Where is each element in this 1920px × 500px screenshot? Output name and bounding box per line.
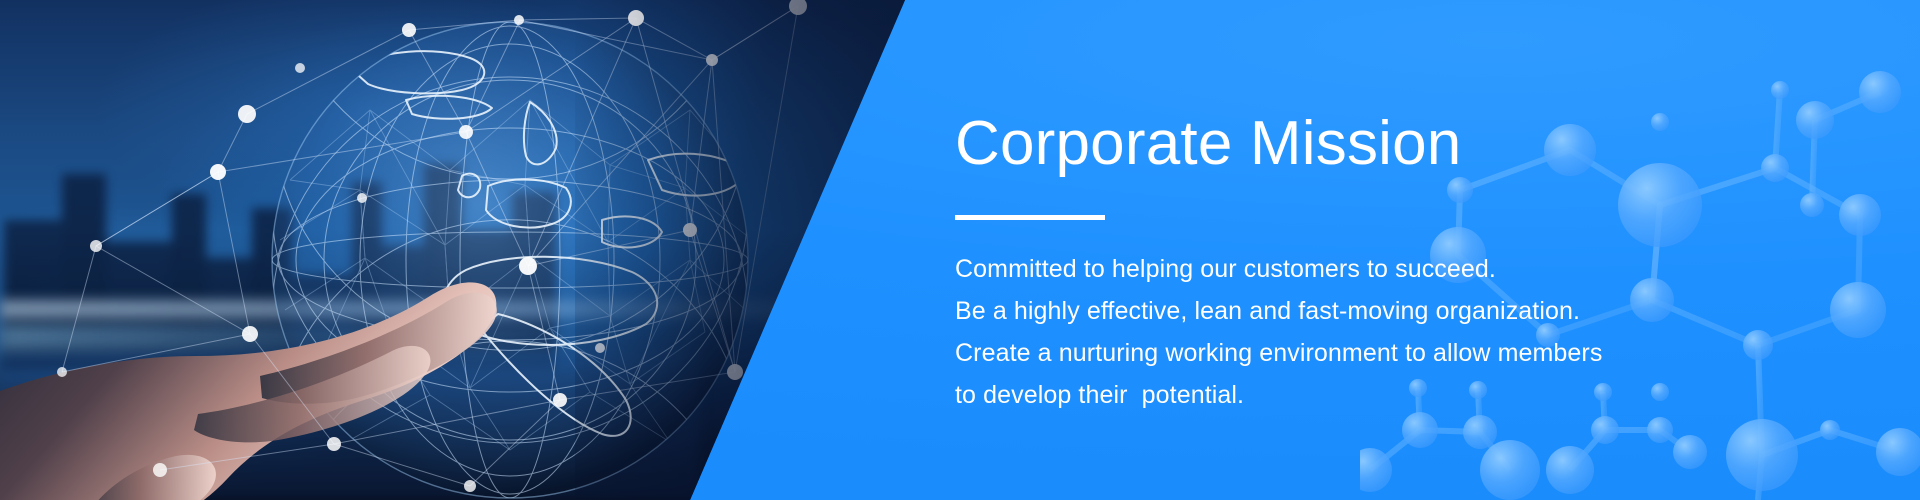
mission-line-2: Be a highly effective, lean and fast-mov… [955, 290, 1835, 332]
page-title: Corporate Mission [955, 112, 1835, 175]
title-divider [955, 215, 1105, 220]
corporate-mission-banner: Corporate Mission Committed to helping o… [0, 0, 1920, 500]
banner-content: Corporate Mission Committed to helping o… [955, 112, 1835, 416]
mission-line-1: Committed to helping our customers to su… [955, 248, 1835, 290]
mission-line-4: to develop their potential. [955, 374, 1835, 416]
mission-line-3: Create a nurturing working environment t… [955, 332, 1835, 374]
mission-statement: Committed to helping our customers to su… [955, 248, 1835, 416]
